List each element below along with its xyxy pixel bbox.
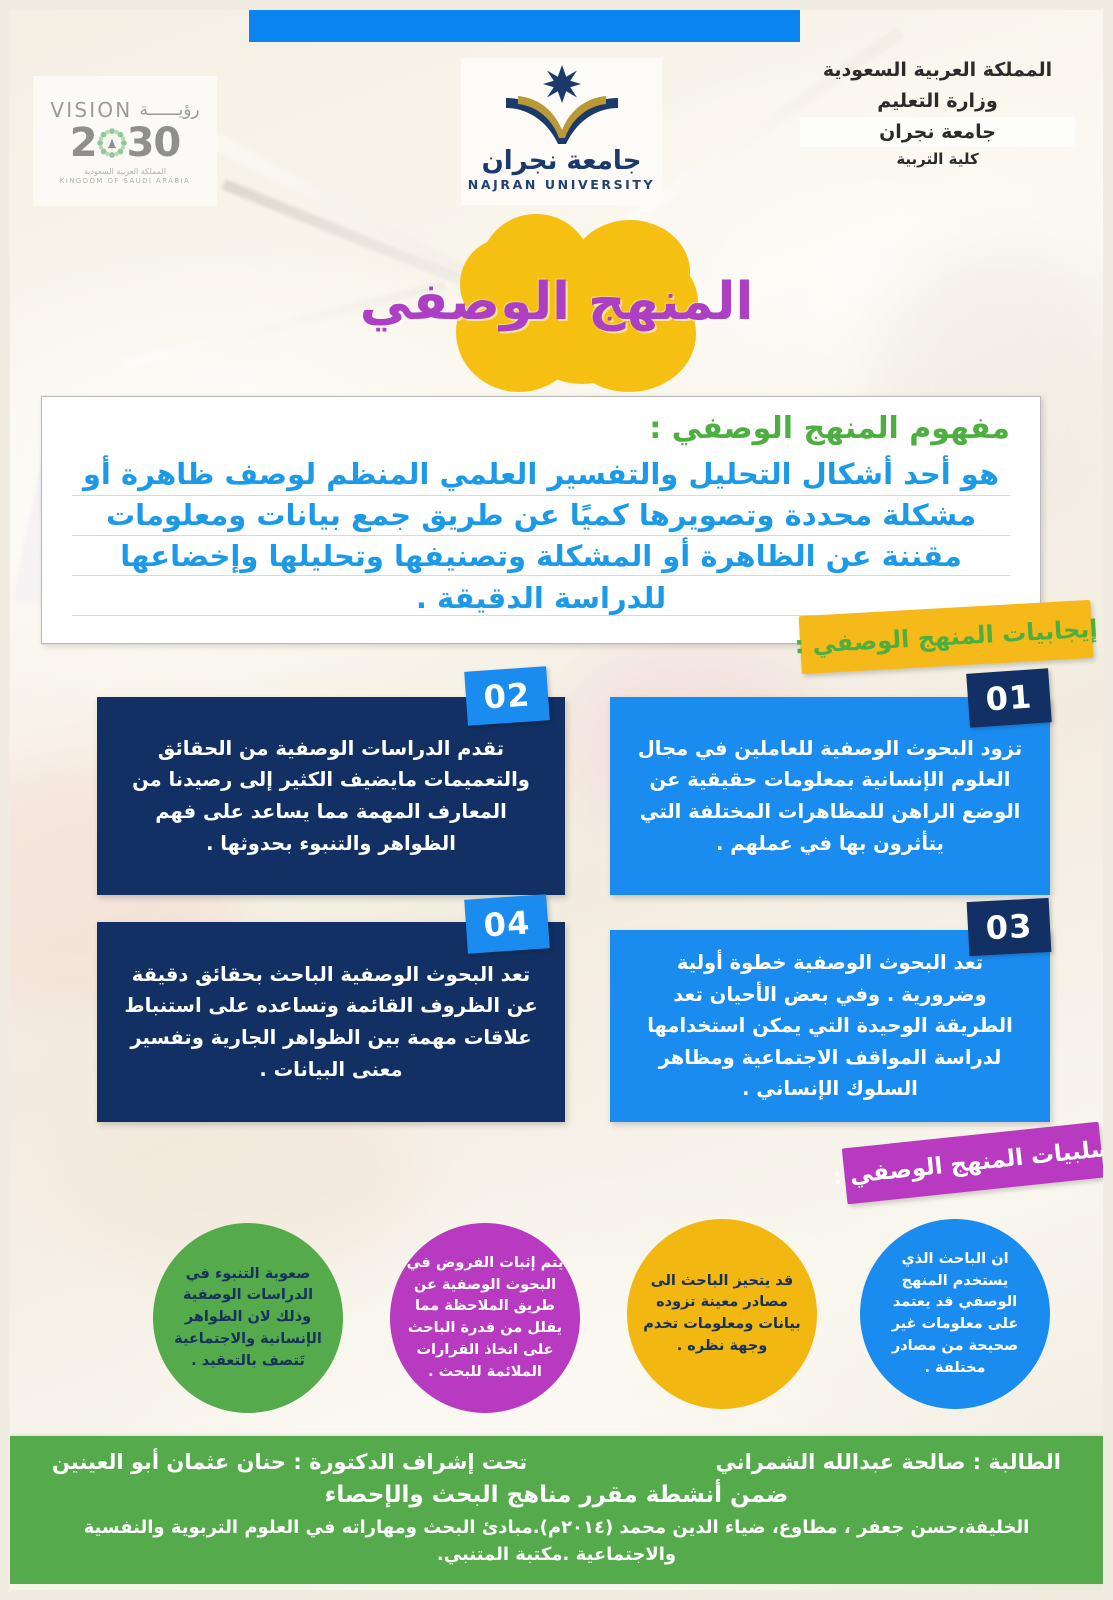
- positive-card-02: تقدم الدراسات الوصفية من الحقائق والتعمي…: [97, 697, 565, 895]
- concept-body-text: هو أحد أشكال التحليل والتفسير العلمي الم…: [72, 454, 1010, 619]
- positive-card-03-text: تعد البحوث الوصفية خطوة أولية وضرورية . …: [636, 947, 1024, 1105]
- negative-circle-green-text: صعوبة التنبوء في الدراسات الوصفية وذلك ل…: [169, 1264, 327, 1373]
- top-blue-bar: [249, 10, 800, 42]
- footer-course: ضمن أنشطة مقرر مناهج البحث والإحصاء: [34, 1482, 1079, 1508]
- positive-card-04: تعد البحوث الوصفية الباحث بحقائق دقيقة ع…: [97, 922, 565, 1122]
- vision-wordmark-row: VISION رؤيــــــة: [50, 98, 199, 122]
- university-name-ar: جامعة نجران: [482, 148, 642, 174]
- starburst-icon: [543, 65, 581, 103]
- card-number-badge-02: 02: [464, 666, 550, 726]
- card-number-badge-01: 01: [966, 668, 1052, 728]
- ministry-line-ministry: وزارة التعليم: [800, 86, 1075, 117]
- vision-year-right: 30: [127, 123, 181, 163]
- positive-card-01-text: تزود البحوث الوصفية للعاملين في مجال الع…: [636, 733, 1024, 859]
- vision-2030-logo: VISION رؤيــــــة 2: [33, 76, 217, 206]
- footer-student: الطالبة : صالحة عبدالله الشمراني: [715, 1450, 1061, 1474]
- poster-footer: الطالبة : صالحة عبدالله الشمراني تحت إشر…: [10, 1436, 1103, 1584]
- najran-university-logo: جامعة نجران NAJRAN UNIVERSITY: [461, 58, 662, 205]
- negative-circle-blue: ان الباحث الذي يستخدم المنهج الوصفي قد ي…: [860, 1219, 1050, 1409]
- concept-heading: مفهوم المنهج الوصفي :: [72, 411, 1010, 446]
- vision-year: 2: [70, 123, 181, 163]
- ministry-header: المملكة العربية السعودية وزارة التعليم ج…: [800, 55, 1075, 172]
- positive-card-02-text: تقدم الدراسات الوصفية من الحقائق والتعمي…: [123, 733, 539, 859]
- negative-circle-magenta: يتم إثبات الفروض في البحوث الوصفية عن طر…: [390, 1223, 580, 1413]
- footer-credits-row: الطالبة : صالحة عبدالله الشمراني تحت إشر…: [34, 1450, 1079, 1474]
- positive-card-03: تعد البحوث الوصفية خطوة أولية وضرورية . …: [610, 930, 1050, 1122]
- card-number-badge-03: 03: [967, 898, 1052, 956]
- footer-supervisor: تحت إشراف الدكتورة : حنان عثمان أبو العي…: [52, 1450, 527, 1474]
- positives-ribbon-label: إيجابيات المنهج الوصفي :: [794, 615, 1099, 660]
- vision-word-ar: رؤيــــــة: [139, 100, 199, 120]
- negative-circle-blue-text: ان الباحث الذي يستخدم المنهج الوصفي قد ي…: [876, 1249, 1034, 1380]
- footer-reference: الخليفة،حسن جعفر ، مطاوع، ضياء الدين محم…: [34, 1514, 1079, 1568]
- negative-circle-yellow-text: قد يتحيز الباحث الى مصادر معينة تزوده بي…: [643, 1271, 801, 1358]
- vision-kingdom-ar: المملكة العربية السعودية: [84, 167, 166, 176]
- vision-word-en: VISION: [50, 98, 132, 122]
- concept-ruled-lines: هو أحد أشكال التحليل والتفسير العلمي الم…: [72, 454, 1010, 619]
- positive-card-04-text: تعد البحوث الوصفية الباحث بحقائق دقيقة ع…: [123, 959, 539, 1085]
- vision-year-left: 2: [70, 123, 97, 163]
- university-name-en: NAJRAN UNIVERSITY: [468, 177, 655, 192]
- page-title: المنهج الوصفي: [0, 272, 1113, 332]
- negative-circle-green: صعوبة التنبوء في الدراسات الوصفية وذلك ل…: [153, 1223, 343, 1413]
- negative-circle-magenta-text: يتم إثبات الفروض في البحوث الوصفية عن طر…: [406, 1253, 564, 1384]
- ministry-line-college: كلية التربية: [800, 147, 1075, 171]
- ministry-line-university: جامعة نجران: [800, 117, 1075, 148]
- vision-kingdom-en: KINGDOM OF SAUDI ARABIA: [60, 177, 190, 185]
- vision-palm-emblem-icon: [95, 126, 129, 160]
- infographic-poster: VISION رؤيــــــة 2: [0, 0, 1113, 1600]
- university-emblem-icon: [496, 64, 628, 150]
- ministry-line-kingdom: المملكة العربية السعودية: [800, 55, 1075, 86]
- negative-circle-yellow: قد يتحيز الباحث الى مصادر معينة تزوده بي…: [627, 1219, 817, 1409]
- concept-definition-box: مفهوم المنهج الوصفي : هو أحد أشكال التحل…: [41, 396, 1041, 644]
- card-number-badge-04: 04: [464, 894, 550, 954]
